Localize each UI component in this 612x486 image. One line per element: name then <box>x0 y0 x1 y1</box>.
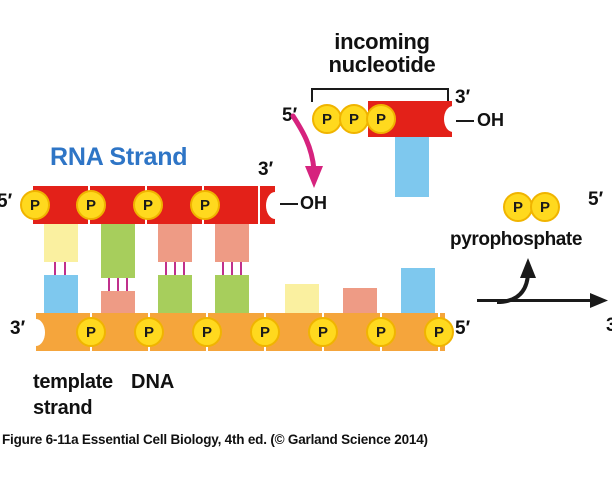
reaction-arrow-shaft <box>477 299 595 302</box>
rna-oh-label: OH <box>300 194 327 213</box>
dna-base-3 <box>158 275 192 315</box>
incoming-oh-label: OH <box>477 111 504 130</box>
dna-left-notch <box>27 319 45 346</box>
dna-3prime-label: 3′ <box>10 319 25 339</box>
pyrophosphate-phosphate-1: P <box>503 192 533 222</box>
pyrophosphate-phosphate-2: P <box>530 192 560 222</box>
hbond-4-2 <box>231 262 233 275</box>
rna-strand-label: RNA Strand <box>50 144 187 170</box>
strand-label: strand <box>33 398 92 419</box>
product-3prime-label: 3 <box>606 316 612 336</box>
dna-5prime-label: 5′ <box>455 319 470 339</box>
hbond-2-2 <box>117 278 119 291</box>
rna-base-2 <box>101 224 135 278</box>
incoming-phosphate-3: P <box>366 104 396 134</box>
rna-oh-connector <box>280 203 298 205</box>
bracket-left-tick <box>311 88 313 102</box>
rna-right-notch <box>266 192 284 219</box>
rna-5prime-label: 5′ <box>0 192 12 212</box>
rna-base-3 <box>158 224 192 262</box>
dna-base-4 <box>215 275 249 315</box>
dna-phosphate-4: P <box>250 317 280 347</box>
template-label: template <box>33 372 113 393</box>
rna-3prime-label: 3′ <box>258 160 273 180</box>
hbond-3-3 <box>183 262 185 275</box>
incoming-nucleotide-base <box>395 137 429 197</box>
incoming-phosphate-2: P <box>339 104 369 134</box>
product-5prime-upper-label: 5′ <box>588 190 603 210</box>
incoming-nucleotide-label-line2: nucleotide <box>308 53 456 76</box>
hbond-2-3 <box>126 278 128 291</box>
hbond-4-3 <box>240 262 242 275</box>
rna-phosphate-3: P <box>133 190 163 220</box>
rna-phosphate-2: P <box>76 190 106 220</box>
figure-canvas: incoming nucleotide P P P 5′ 3′ OH RNA S… <box>0 0 612 486</box>
dna-phosphate-3: P <box>192 317 222 347</box>
hbond-1-2 <box>64 262 66 275</box>
dna-phosphate-6: P <box>366 317 396 347</box>
dna-base-2 <box>101 291 135 315</box>
dna-phosphate-1: P <box>76 317 106 347</box>
reaction-arrow-head <box>590 292 612 310</box>
incoming-nucleotide-label-line1: incoming <box>308 30 456 53</box>
rna-base-4 <box>215 224 249 262</box>
rna-divider-4 <box>258 186 260 224</box>
hbond-2-1 <box>108 278 110 291</box>
dna-label: DNA <box>131 372 174 393</box>
incoming-nucleotide-right-notch <box>444 106 462 132</box>
dna-base-5 <box>285 284 319 315</box>
dna-base-7 <box>401 268 435 315</box>
incoming-nucleotide-label: incoming nucleotide <box>308 30 456 76</box>
pyrophosphate-label: pyrophosphate <box>450 230 582 250</box>
attack-arrow-magenta <box>280 108 340 198</box>
rna-base-1 <box>44 224 78 262</box>
dna-base-1 <box>44 275 78 315</box>
bracket-right-tick <box>447 88 449 102</box>
figure-caption: Figure 6-11a Essential Cell Biology, 4th… <box>2 432 428 447</box>
hbond-1-1 <box>54 262 56 275</box>
hbond-3-1 <box>165 262 167 275</box>
incoming-oh-connector <box>456 120 474 122</box>
rna-phosphate-1: P <box>20 190 50 220</box>
dna-phosphate-7: P <box>424 317 454 347</box>
hbond-4-1 <box>222 262 224 275</box>
hbond-3-2 <box>174 262 176 275</box>
incoming-3prime-label: 3′ <box>455 88 470 108</box>
dna-base-6 <box>343 288 377 315</box>
bracket-top <box>311 88 449 90</box>
dna-phosphate-2: P <box>134 317 164 347</box>
rna-phosphate-4: P <box>190 190 220 220</box>
dna-phosphate-5: P <box>308 317 338 347</box>
